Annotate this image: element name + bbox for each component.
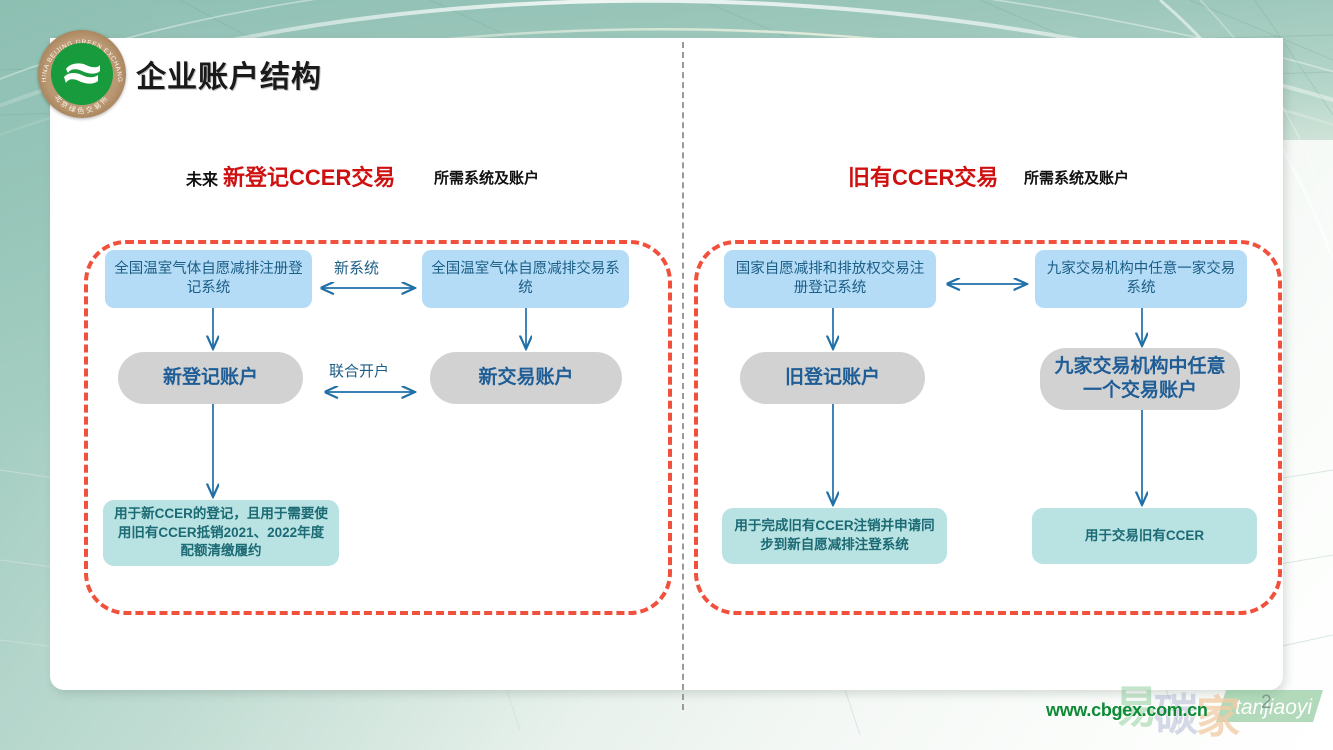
footer-url[interactable]: www.cbgex.com.cn [1046,700,1208,721]
panel-new-heading-suffix: 所需系统及账户 [434,167,539,188]
note-box-old-trading: 用于交易旧有CCER [1032,508,1257,564]
system-box-old-trading[interactable]: 九家交易机构中任意一家交易系统 [1035,250,1247,308]
link-label-joint-account: 联合开户 [329,360,389,381]
account-pill-new-registry[interactable]: 新登记账户 [118,352,303,404]
page-title: 企业账户结构 [136,52,322,96]
system-box-new-registry[interactable]: 全国温室气体自愿减排注册登记系统 [105,250,312,308]
panel-new-heading-prefix: 未来 [186,166,218,190]
panel-new-heading-highlight: 新登记CCER交易 [223,160,395,192]
account-pill-new-trading[interactable]: 新交易账户 [430,352,622,404]
logo-swirl-icon [60,59,104,89]
cbgex-logo: CHINA BEIJING GREEN EXCHANGE 北京绿色交易所 [38,30,126,118]
page-number: 2 [1261,692,1272,714]
svg-text:.com: .com [1276,721,1311,738]
system-box-new-trading[interactable]: 全国温室气体自愿减排交易系统 [422,250,629,308]
account-pill-old-registry[interactable]: 旧登记账户 [740,352,925,404]
panel-old-heading-suffix: 所需系统及账户 [1024,167,1129,188]
system-box-old-registry[interactable]: 国家自愿减排和排放权交易注册登记系统 [724,250,936,308]
slide-canvas: CHINA BEIJING GREEN EXCHANGE 北京绿色交易所 企业账… [0,0,1333,750]
logo-disc [51,43,113,105]
panel-old-heading-highlight: 旧有CCER交易 [848,160,998,192]
svg-text:tanjiaoyi: tanjiaoyi [1235,696,1313,719]
center-divider [682,42,684,710]
note-box-new-registry: 用于新CCER的登记，且用于需要使用旧有CCER抵销2021、2022年度配额清… [103,500,339,566]
link-label-new-system: 新系统 [334,257,379,278]
account-pill-old-trading[interactable]: 九家交易机构中任意一个交易账户 [1040,348,1240,410]
note-box-old-registry: 用于完成旧有CCER注销并申请同步到新自愿减排注登系统 [722,508,947,564]
